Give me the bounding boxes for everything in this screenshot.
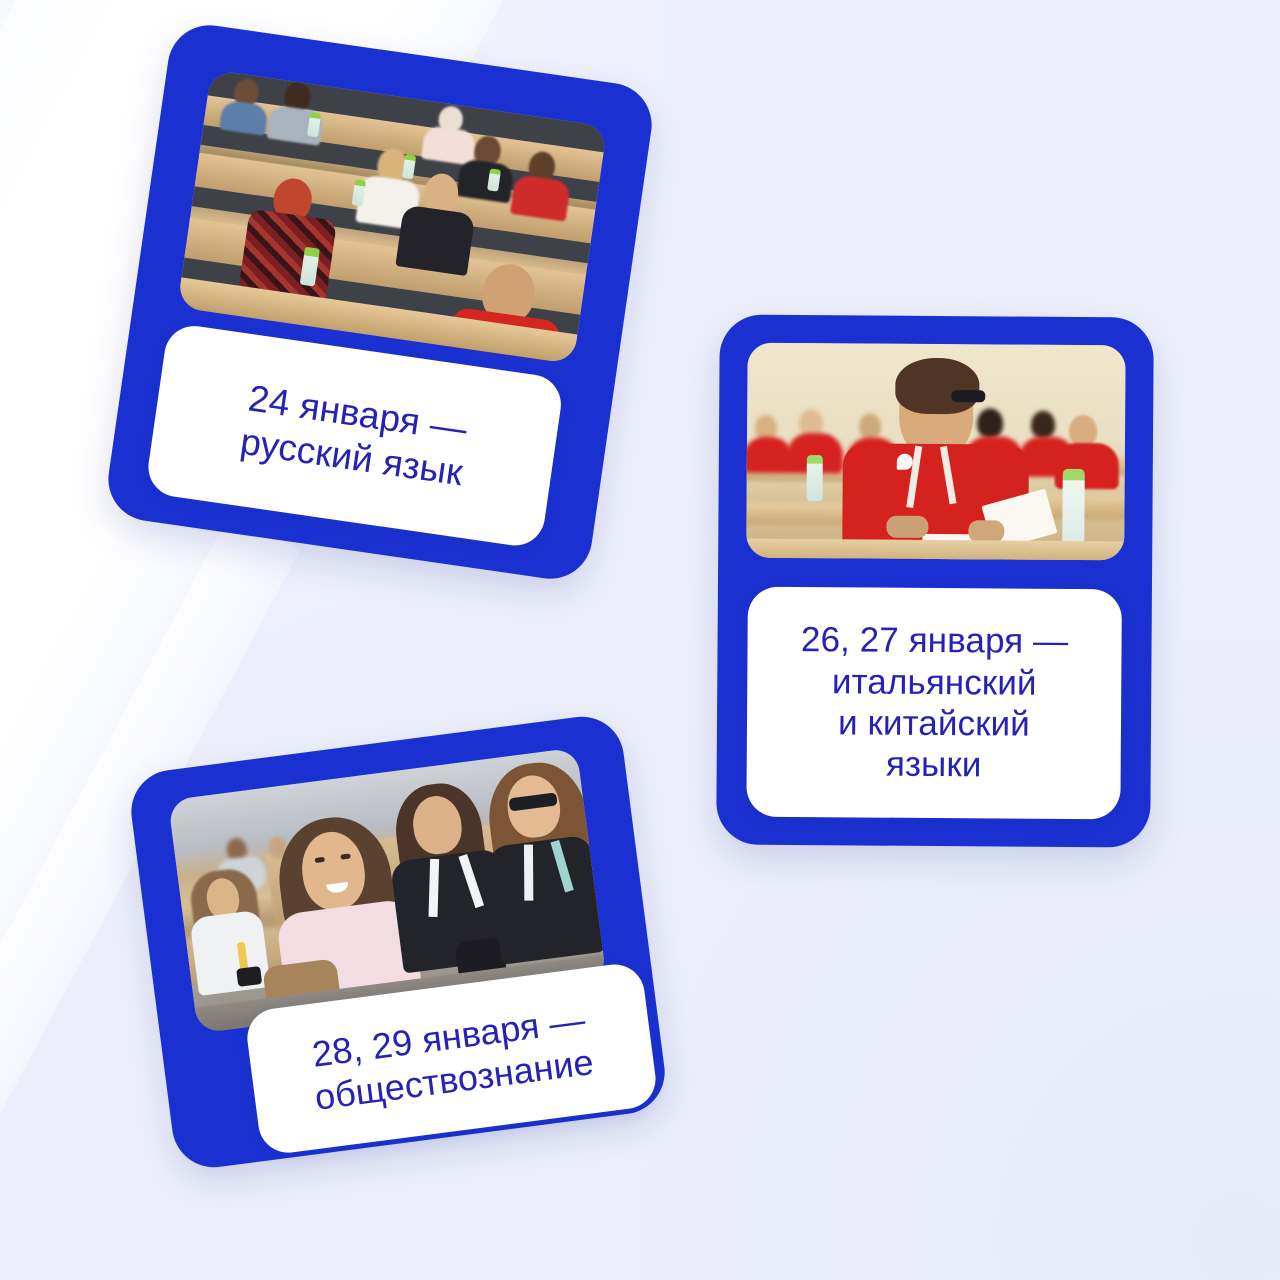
card-text-panel-russian: 24 января — русский язык bbox=[144, 322, 564, 549]
card-text-panel-italian-chinese: 26, 27 января — итальянский и китайский … bbox=[746, 587, 1122, 820]
poster-canvas: 24 января — русский язык bbox=[0, 0, 1280, 1280]
schedule-card-italian-chinese[interactable]: 26, 27 января — итальянский и китайский … bbox=[716, 314, 1154, 847]
schedule-card-social-studies[interactable]: 28, 29 января — обществознание bbox=[126, 712, 669, 1173]
card-photo-lecture-hall bbox=[177, 70, 607, 365]
schedule-card-russian[interactable]: 24 января — русский язык bbox=[103, 20, 657, 584]
card-photo-exam-room bbox=[746, 343, 1125, 561]
card-label-russian: 24 января — русский язык bbox=[238, 377, 472, 495]
card-label-italian-chinese: 26, 27 января — итальянский и китайский … bbox=[800, 619, 1068, 786]
card-label-social-studies: 28, 29 января — обществознание bbox=[307, 998, 596, 1118]
